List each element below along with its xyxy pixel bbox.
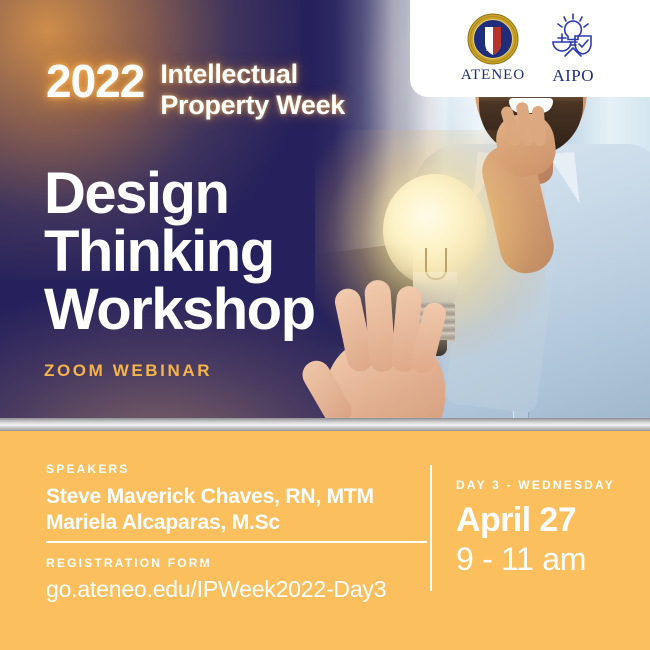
poster-title: Design Thinking Workshop ZOOM WEBINAR [44,165,315,381]
poster: ATENEO [0,0,650,650]
schedule-section: DAY 3 - WEDNESDAY April 27 9 - 11 am [456,478,615,578]
aipo-lightbulb-icon [547,12,599,64]
event-time: 9 - 11 am [456,541,615,578]
registration-section: REGISTRATION FORM go.ateneo.edu/IPWeek20… [46,556,386,603]
event-header: 2022 Intellectual Property Week [46,58,345,120]
vertical-divider [430,465,432,591]
logo-panel: ATENEO [410,0,650,97]
event-name-line2: Property Week [160,91,345,120]
title-line-2: Thinking [44,223,315,281]
aipo-logo: AIPO [547,12,599,86]
registration-url[interactable]: go.ateneo.edu/IPWeek2022-Day3 [46,576,386,603]
hand-holding-bulb [295,278,495,421]
speaker-name: Steve Maverick Chaves, RN, MTM [46,484,374,510]
ateneo-seal-icon [467,13,519,65]
event-year: 2022 [46,58,144,104]
ateneo-logo: ATENEO [461,13,525,84]
title-line-1: Design [44,165,315,223]
speaker-name: Mariela Alcaparas, M.Sc [46,510,374,536]
event-name-line1: Intellectual [160,60,345,89]
title-line-3: Workshop [44,281,315,339]
event-date: April 27 [456,501,615,540]
speakers-label: SPEAKERS [46,462,374,476]
registration-label: REGISTRATION FORM [46,556,386,570]
horizontal-divider [46,541,427,543]
ateneo-logo-label: ATENEO [461,67,525,84]
day-label: DAY 3 - WEDNESDAY [456,478,615,492]
lightbulb-graphic [355,160,535,420]
speakers-section: SPEAKERS Steve Maverick Chaves, RN, MTM … [46,462,374,537]
format-subtitle: ZOOM WEBINAR [44,361,315,381]
silver-divider [0,418,650,432]
aipo-logo-label: AIPO [552,66,594,86]
event-name: Intellectual Property Week [160,58,345,120]
